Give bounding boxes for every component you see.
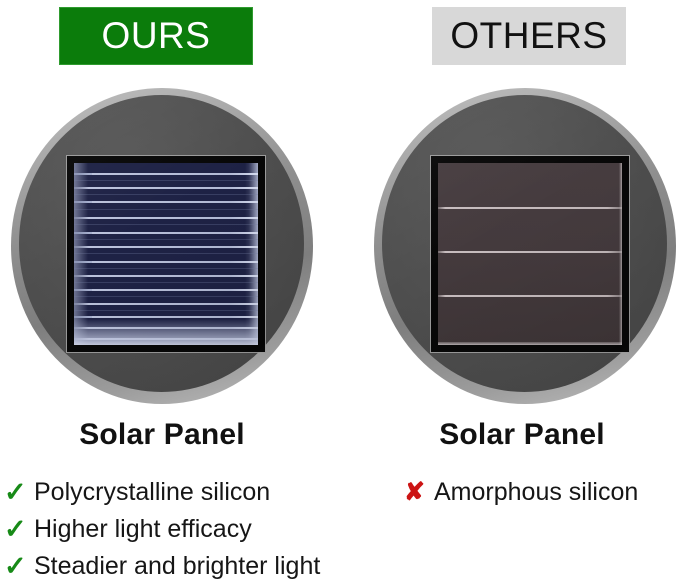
list-item: ✘ Amorphous silicon: [404, 474, 679, 511]
panel-glow-left: [74, 163, 88, 345]
check-icon: ✓: [4, 479, 34, 506]
panel-finger: [74, 282, 258, 283]
feature-label: Polycrystalline silicon: [34, 480, 270, 505]
panel-busbar: [74, 289, 258, 291]
banner-others: OTHERS: [432, 7, 626, 65]
panel-finger: [74, 268, 258, 269]
panel-busbar: [74, 187, 258, 189]
panel-busbar: [74, 173, 258, 175]
panel-glow-bottom: [74, 319, 258, 345]
panel-finger: [74, 296, 258, 297]
banner-ours: OURS: [59, 7, 253, 65]
panel-seam: [438, 207, 622, 209]
comparison-infographic: OURS OTHERS: [0, 0, 679, 587]
feature-label: Steadier and brighter light: [34, 554, 320, 579]
feature-label: Higher light efficacy: [34, 517, 252, 542]
check-icon: ✓: [4, 553, 34, 580]
panel-glow-right: [245, 163, 258, 345]
lamp-body-left: [19, 95, 304, 392]
list-item: ✓ Steadier and brighter light: [4, 548, 338, 585]
lamp-right: [374, 88, 676, 404]
panel-busbar: [74, 303, 258, 305]
panel-seam: [438, 251, 622, 253]
solar-panel-frame-right: [430, 155, 630, 353]
panel-busbar: [74, 275, 258, 277]
panel-tab: [74, 201, 92, 203]
lamp-body-right: [382, 95, 667, 392]
lamp-left: [11, 88, 313, 404]
panel-finger: [74, 239, 258, 240]
solar-panel-face-polycrystalline: [74, 163, 258, 345]
feature-list-left: ✓ Polycrystalline silicon ✓ Higher light…: [4, 474, 338, 585]
panel-finger: [74, 194, 258, 195]
panel-busbar: [74, 246, 258, 248]
feature-list-right: ✘ Amorphous silicon: [404, 474, 679, 511]
panel-busbar: [74, 217, 258, 219]
panel-busbar: [74, 201, 258, 203]
list-item: ✓ Polycrystalline silicon: [4, 474, 338, 511]
list-item: ✓ Higher light efficacy: [4, 511, 338, 548]
panel-busbar: [74, 327, 258, 329]
panel-tab: [74, 316, 92, 318]
panel-finger: [74, 209, 258, 210]
panel-tab: [74, 261, 92, 263]
panel-busbar: [74, 261, 258, 263]
panel-tab: [74, 289, 92, 291]
panel-finger: [74, 253, 258, 254]
panel-seam: [438, 295, 622, 297]
check-icon: ✓: [4, 516, 34, 543]
cross-icon: ✘: [404, 480, 434, 505]
panel-tab: [74, 232, 92, 234]
panel-busbar: [74, 316, 258, 318]
panel-edge-right: [619, 163, 622, 345]
panel-finger: [74, 224, 258, 225]
solar-panel-frame-left: [66, 155, 266, 353]
panel-edge-bottom: [438, 342, 622, 345]
panel-busbar: [74, 338, 258, 340]
panel-busbar: [74, 232, 258, 234]
panel-finger: [74, 310, 258, 311]
panel-tab: [74, 173, 92, 175]
feature-label: Amorphous silicon: [434, 480, 638, 505]
caption-right: Solar Panel: [362, 418, 679, 452]
caption-left: Solar Panel: [2, 418, 322, 452]
solar-panel-face-amorphous: [438, 163, 622, 345]
panel-finger: [74, 180, 258, 181]
